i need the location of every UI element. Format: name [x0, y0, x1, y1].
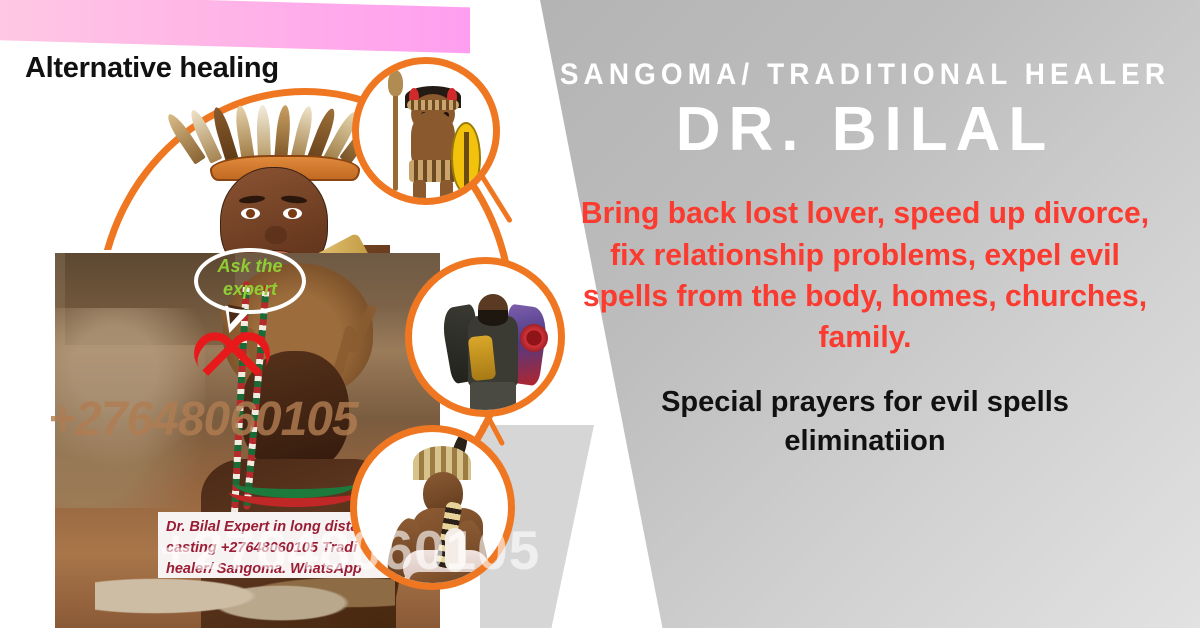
warrior-skirt [409, 160, 457, 182]
phone-number-watermark: +27648060105 [50, 518, 650, 582]
pink-accent-strip [0, 0, 470, 53]
thumbnail-zulu-warrior[interactable] [352, 57, 500, 205]
healer-scarf [468, 335, 496, 381]
page-title: Alternative healing [25, 52, 279, 85]
poster-canvas: Alternative healing [0, 0, 1200, 628]
feather-headdress-icon [190, 105, 365, 167]
healer-legs [470, 382, 516, 412]
services-list-red: Bring back lost lover, speed up divorce,… [569, 192, 1161, 357]
warrior-headband [407, 100, 459, 110]
speech-bubble-label: Ask the expert [200, 255, 300, 300]
headline-name: DR. BILAL [530, 98, 1200, 162]
kicker-text: SANGOMA/ TRADITIONAL HEALER [553, 58, 1176, 92]
services-list-black: Special prayers for evil spells eliminat… [585, 383, 1145, 461]
spear-tip-icon [388, 70, 403, 96]
shield-icon [451, 122, 481, 194]
healer-beard [478, 310, 508, 326]
red-necklace [229, 477, 361, 507]
